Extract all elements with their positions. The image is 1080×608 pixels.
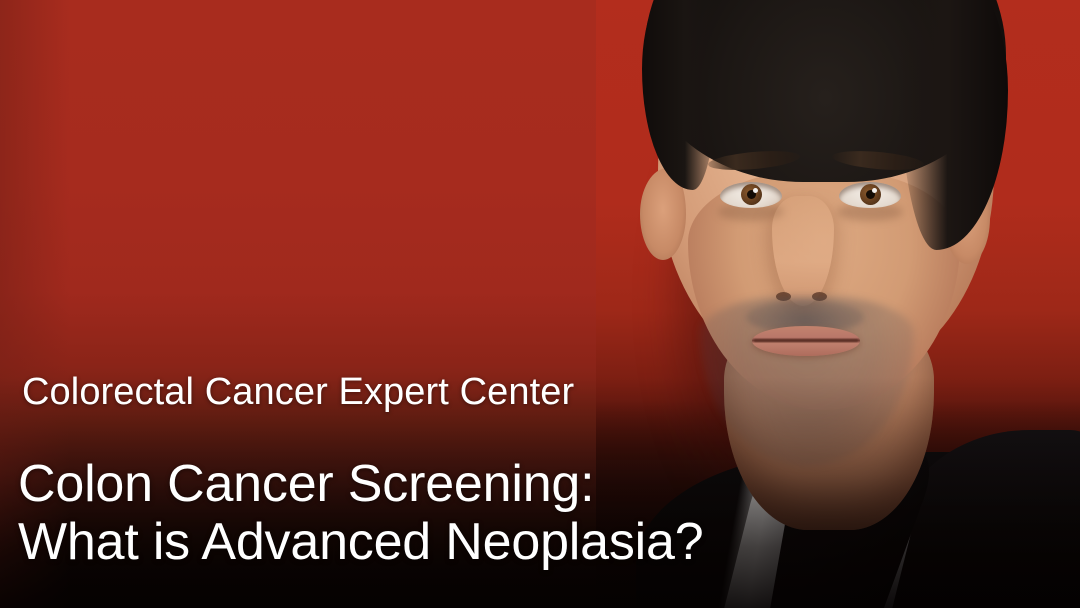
- headline: Colon Cancer Screening: What is Advanced…: [18, 455, 703, 571]
- text-overlay: Colorectal Cancer Expert Center Colon Ca…: [0, 0, 1080, 608]
- brand-eyebrow-text: Colorectal Cancer Expert Center: [22, 371, 574, 414]
- headline-line-1: Colon Cancer Screening:: [18, 455, 594, 513]
- title-card: Colorectal Cancer Expert Center Colon Ca…: [0, 0, 1080, 608]
- headline-line-2: What is Advanced Neoplasia?: [18, 513, 703, 571]
